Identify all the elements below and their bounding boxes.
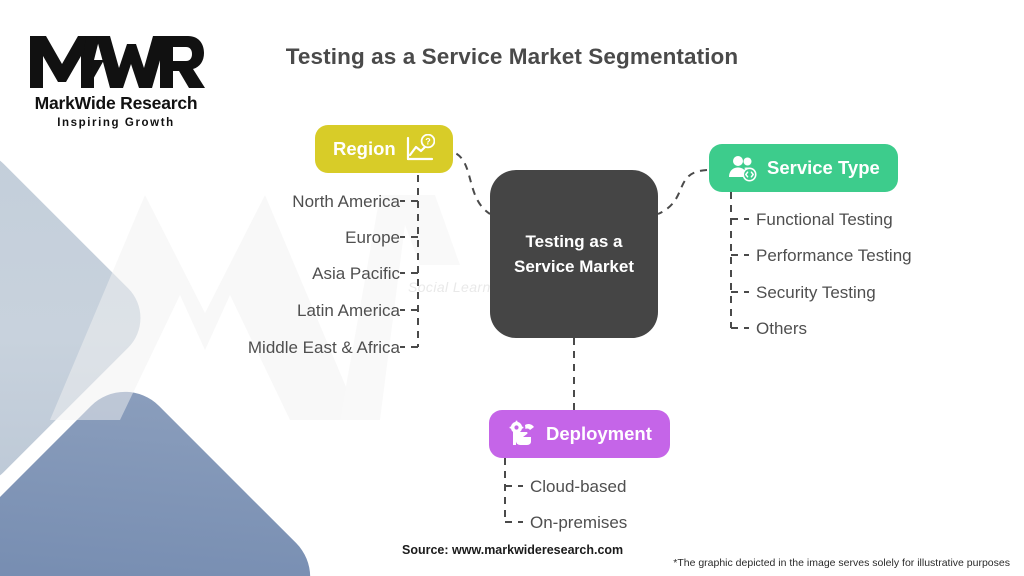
branch-badge-service-type-label: Service Type: [767, 157, 880, 179]
disclaimer-note: *The graphic depicted in the image serve…: [673, 557, 1010, 569]
source-line: Source: www.markwideresearch.com: [402, 543, 623, 557]
leaf-service-type-3: Others: [756, 319, 807, 339]
brand-name: MarkWide Research: [34, 93, 198, 114]
branch-badge-deployment-label: Deployment: [546, 423, 652, 445]
svg-text:?: ?: [425, 136, 431, 146]
branch-badge-service-type[interactable]: Service Type: [709, 144, 898, 192]
leaf-region-2: Asia Pacific: [60, 264, 400, 284]
chart-growth-question-icon: ?: [405, 134, 435, 164]
core-node-label: Testing as a Service Market: [506, 229, 642, 280]
leaf-service-type-0: Functional Testing: [756, 210, 893, 230]
branch-badge-region-label: Region: [333, 138, 396, 160]
users-code-icon: [727, 153, 758, 183]
branch-badge-region[interactable]: ? Region: [315, 125, 453, 173]
page-title: Testing as a Service Market Segmentation: [0, 44, 1024, 70]
leaf-service-type-1: Performance Testing: [756, 246, 912, 266]
leaf-region-0: North America: [60, 192, 400, 212]
watermark-text: Social Learn: [408, 279, 491, 295]
leaf-deployment-1: On-premises: [530, 513, 627, 533]
leaf-region-4: Middle East & Africa: [60, 338, 400, 358]
hand-gear-icon: [507, 419, 537, 449]
infographic-canvas: Social Learn MarkWide Research Inspiring…: [0, 0, 1024, 576]
brand-tagline: Inspiring Growth: [34, 117, 198, 129]
core-node[interactable]: Testing as a Service Market: [490, 170, 658, 338]
leaf-deployment-0: Cloud-based: [530, 477, 626, 497]
leaf-region-1: Europe: [60, 228, 400, 248]
leaf-service-type-2: Security Testing: [756, 283, 876, 303]
leaf-region-3: Latin America: [60, 301, 400, 321]
watermark-mwr-logo: [40, 175, 510, 425]
branch-badge-deployment[interactable]: Deployment: [489, 410, 670, 458]
